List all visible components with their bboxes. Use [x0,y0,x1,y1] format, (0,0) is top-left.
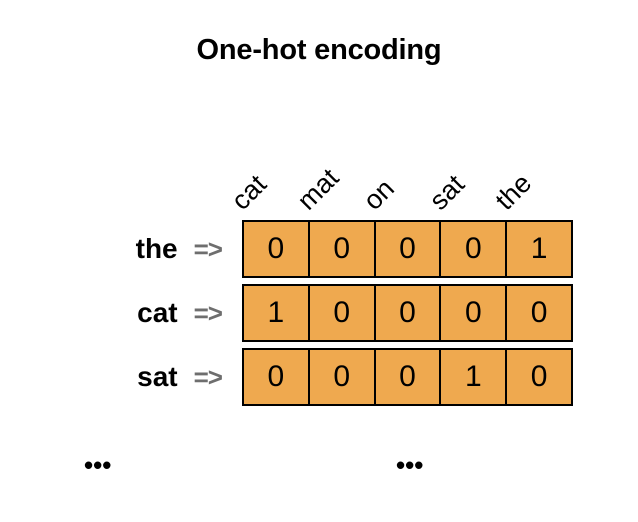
row-label-cat: cat => [0,284,232,342]
one-hot-matrix: 0 0 0 0 1 1 0 0 0 0 0 0 0 1 0 [242,220,573,412]
matrix-cell: 0 [310,286,376,340]
column-header-row: cat mat on sat the [242,120,573,215]
matrix-cell: 0 [507,350,571,404]
matrix-cell: 0 [376,222,442,276]
matrix-cell: 1 [507,222,571,276]
arrow-icon: => [194,236,222,262]
table-row: 0 0 0 1 0 [242,348,573,406]
matrix-cell: 1 [244,286,310,340]
page-title: One-hot encoding [0,34,638,67]
matrix-cell: 1 [441,350,507,404]
row-label-the: the => [0,220,232,278]
matrix-cell: 0 [441,286,507,340]
arrow-icon: => [194,364,222,390]
ellipsis-matrix: ••• [396,452,423,478]
matrix-cell: 0 [441,222,507,276]
matrix-cell: 0 [244,350,310,404]
matrix-cell: 0 [507,286,571,340]
matrix-cell: 0 [244,222,310,276]
row-label-word: cat [137,299,177,327]
row-label-sat: sat => [0,348,232,406]
ellipsis-rows: ••• [84,452,111,478]
matrix-cell: 0 [310,350,376,404]
matrix-cell: 0 [376,286,442,340]
row-label-column: the => cat => sat => [0,220,232,415]
column-header-label: cat [227,170,272,215]
matrix-cell: 0 [376,350,442,404]
table-row: 1 0 0 0 0 [242,284,573,342]
table-row: 0 0 0 0 1 [242,220,573,278]
matrix-cell: 0 [310,222,376,276]
row-label-word: sat [137,363,177,391]
arrow-icon: => [194,300,222,326]
column-header-the: the [506,120,572,215]
row-label-word: the [136,235,178,263]
